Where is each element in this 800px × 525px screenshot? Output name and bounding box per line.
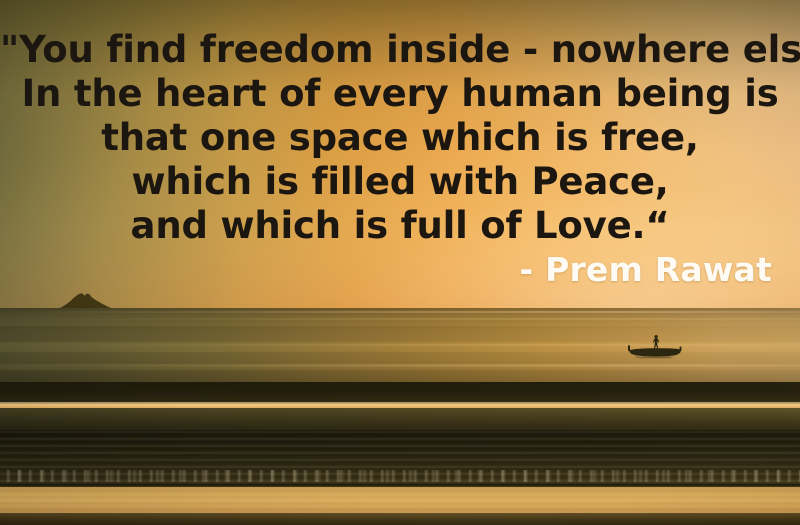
quote-line-3: that one space which is free, <box>0 116 800 160</box>
sea-light-streak <box>0 364 800 367</box>
quote-attribution: - Prem Rawat <box>519 250 772 290</box>
sea-light-streak <box>0 318 800 320</box>
quote-text-block: "You find freedom inside - nowhere else.… <box>0 28 800 248</box>
wet-sand <box>0 487 800 516</box>
quote-line-1: "You find freedom inside - nowhere else. <box>0 28 800 72</box>
quote-line-2: In the heart of every human being is <box>0 72 800 116</box>
boat-silhouette <box>626 333 684 359</box>
quote-line-5: and which is full of Love.“ <box>0 204 800 248</box>
quote-image: "You find freedom inside - nowhere else.… <box>0 0 800 525</box>
sea-light-streak <box>0 311 800 313</box>
foreground-sand-shadow <box>0 513 800 525</box>
wave-dark-band <box>0 382 800 404</box>
quote-line-4: which is filled with Peace, <box>0 160 800 204</box>
foam-sparkle <box>0 470 800 482</box>
